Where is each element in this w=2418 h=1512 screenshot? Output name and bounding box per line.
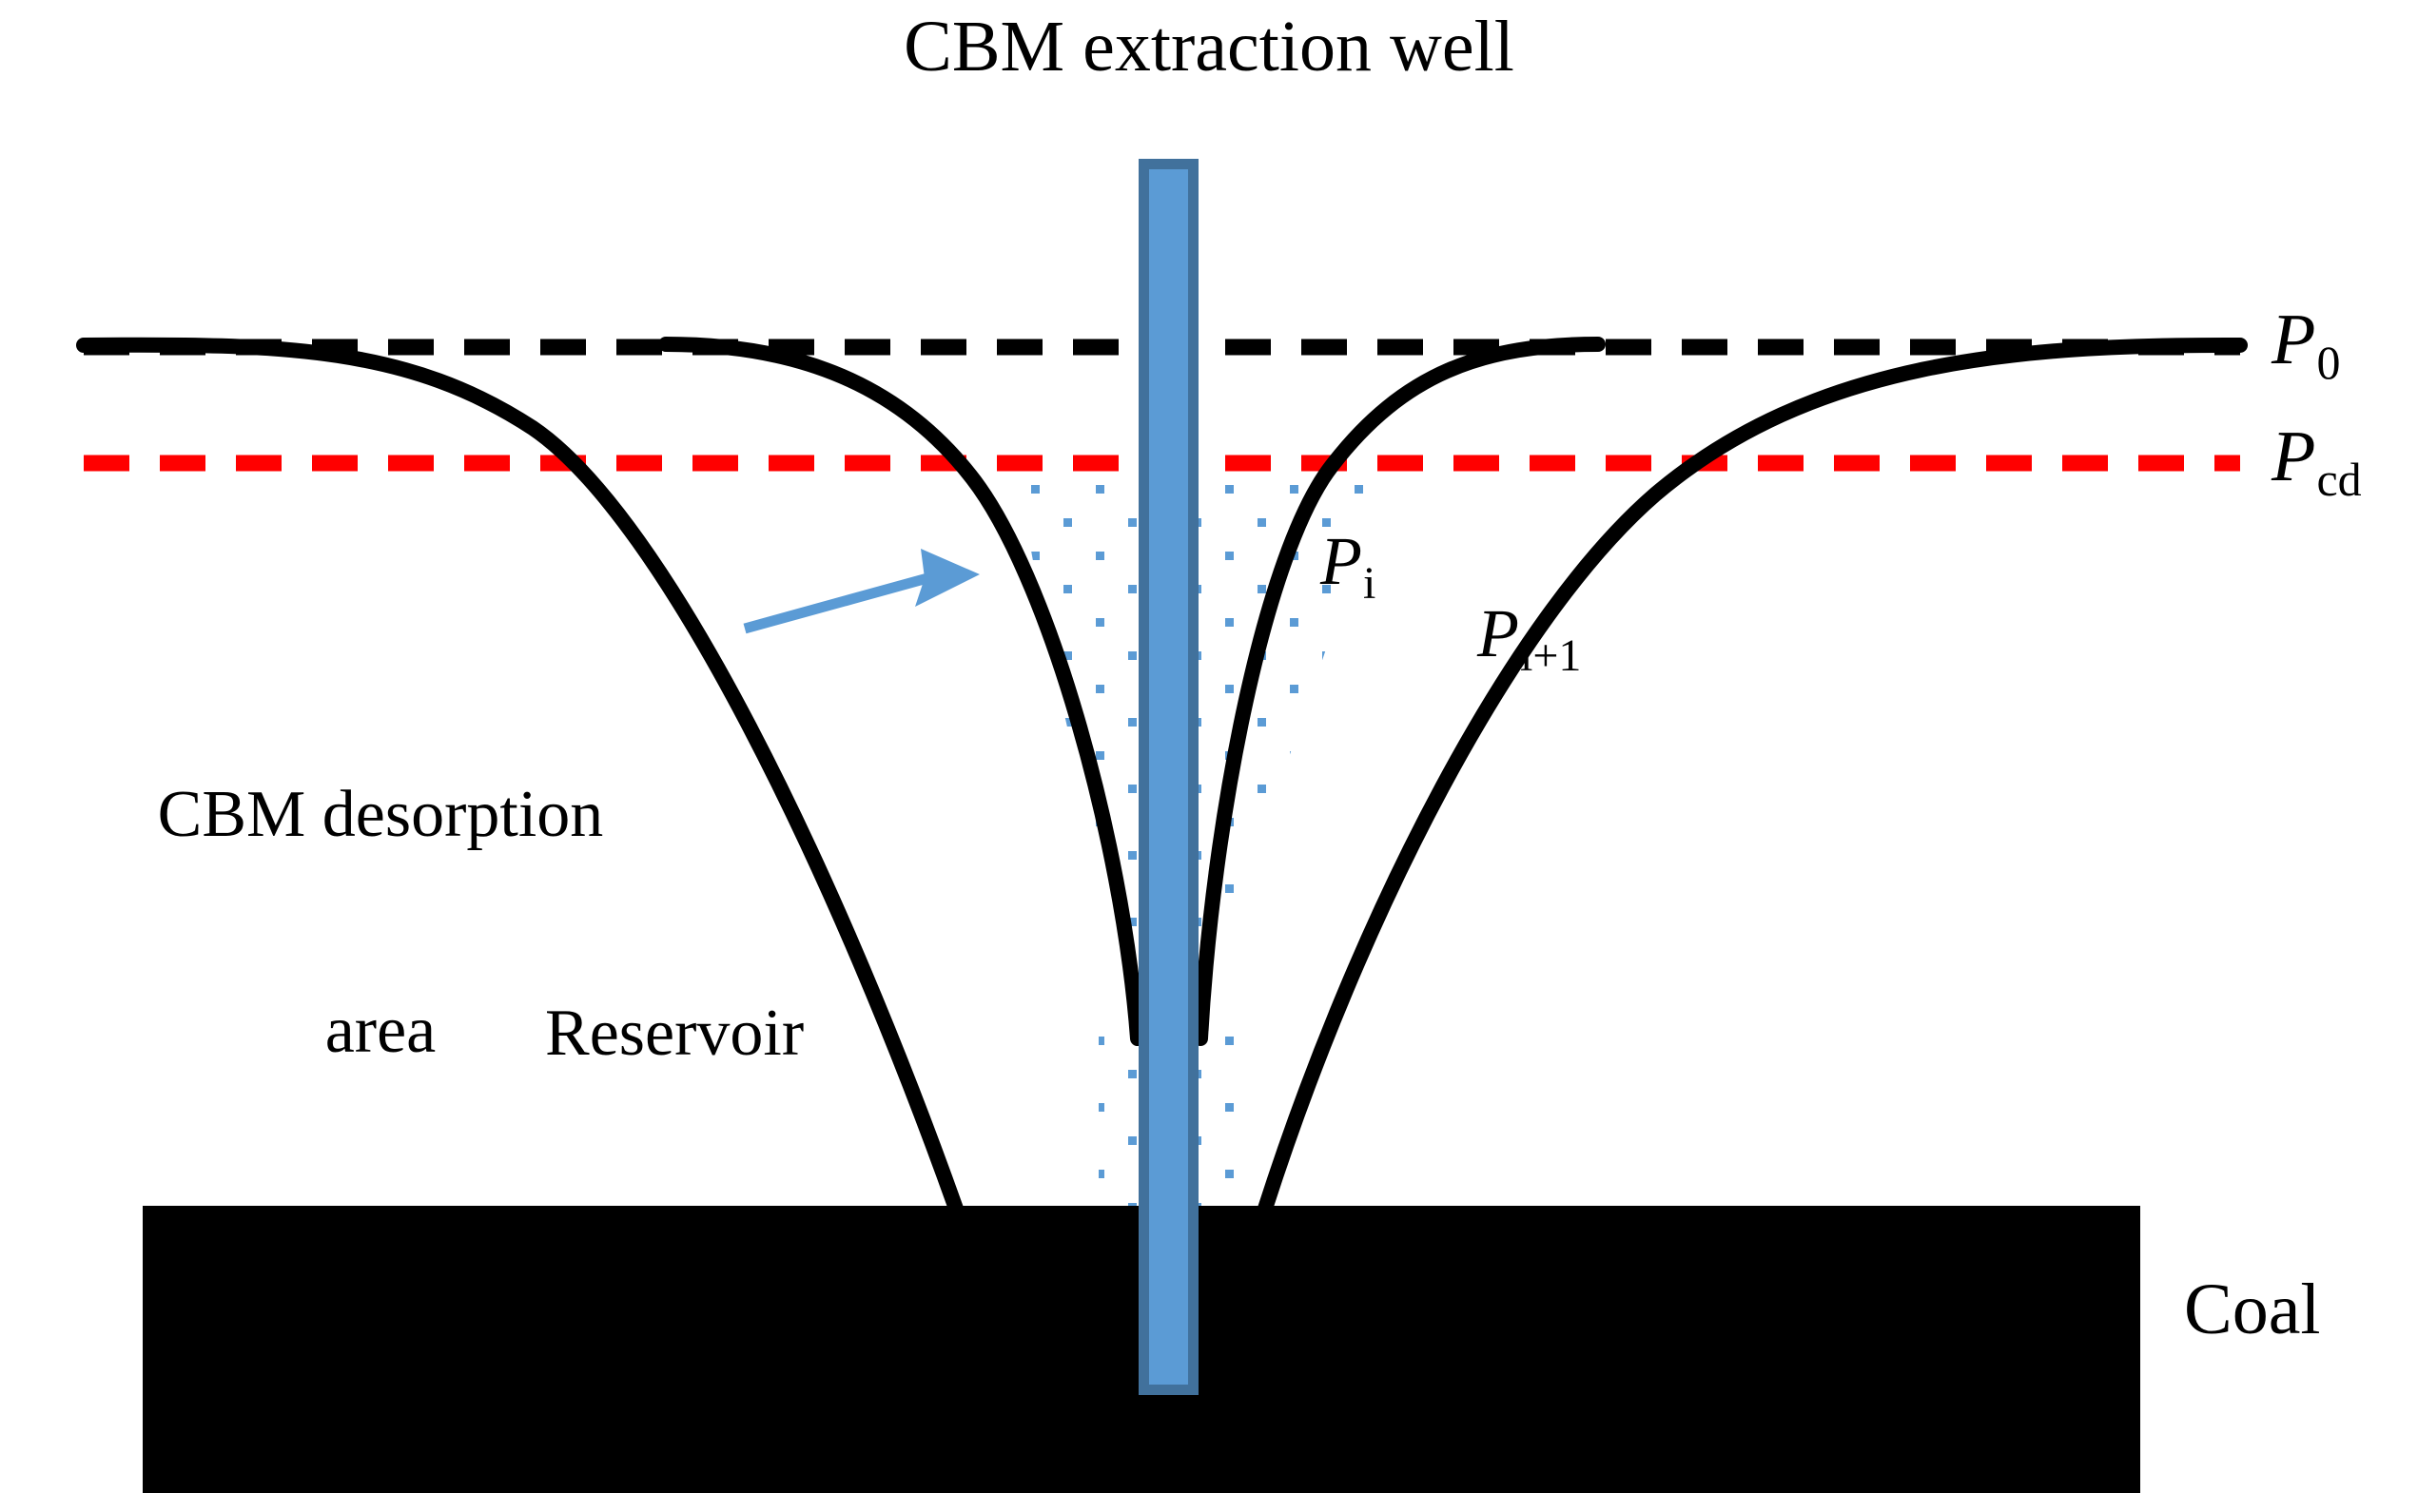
label-pcd-symbol: P [2272,417,2315,496]
label-pi1: Pi+1 [1477,597,1581,681]
funnel-line-1: Reservoir [545,998,1078,1070]
funnel-line-2: pressure drop [545,1213,1078,1286]
label-pcd: Pcd [2272,417,2362,505]
label-pi1-subscript: i+1 [1520,630,1581,681]
label-pi-subscript: i [1363,558,1375,609]
label-pi: Pi [1320,525,1375,609]
pressure-funnel-curve-pi1-right [1265,345,2240,1209]
desorption-callout-arrow [745,549,980,629]
label-pi1-symbol: P [1477,595,1519,671]
pressure-drop-funnel-annotation: Reservoir pressure drop funnel [545,854,1078,1512]
funnel-line-3: funnel [545,1429,1078,1502]
figure-canvas: CBM extraction well CBM desorption area … [0,0,2418,1512]
coal-seam-label: Coal [2184,1270,2321,1348]
pressure-funnel-curve-pi-right [1200,344,1598,1038]
label-p0-symbol: P [2272,300,2315,379]
label-p0-subscript: 0 [2316,336,2340,389]
well-casing-inner [1149,169,1188,1385]
label-pi-symbol: P [1320,523,1362,599]
page-title: CBM extraction well [0,8,2418,86]
desorption-area-line-1: CBM desorption [57,779,704,851]
label-pcd-subscript: cd [2316,453,2361,506]
label-p0: P0 [2272,300,2340,388]
